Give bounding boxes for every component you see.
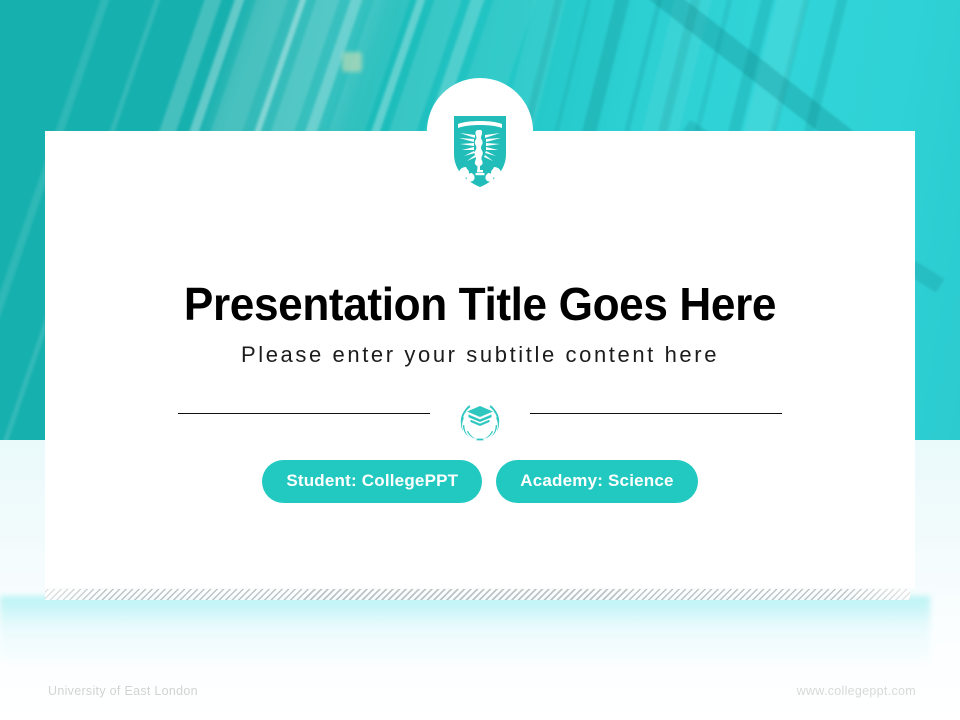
divider-rule-left (178, 413, 430, 414)
background-highlight-patch (342, 52, 362, 72)
footer-institution: University of East London (48, 684, 198, 698)
footer-website: www.collegeppt.com (797, 684, 916, 698)
graduation-cap-laurel-icon (454, 396, 506, 442)
tag-pill-student[interactable]: Student: CollegePPT (262, 460, 482, 503)
university-crest-shield-phoenix-icon (448, 110, 512, 190)
card-shadow-glow (0, 596, 930, 666)
card-hatched-edge-fade (45, 589, 910, 600)
page-title: Presentation Title Goes Here (19, 276, 941, 332)
page-subtitle: Please enter your subtitle content here (0, 339, 960, 371)
tag-pill-academy[interactable]: Academy: Science (496, 460, 697, 503)
divider-rule-right (530, 413, 782, 414)
tag-pill-group: Student: CollegePPT Academy: Science (0, 458, 960, 504)
presentation-slide: Presentation Title Goes Here Please ente… (0, 0, 960, 720)
divider (0, 396, 960, 442)
